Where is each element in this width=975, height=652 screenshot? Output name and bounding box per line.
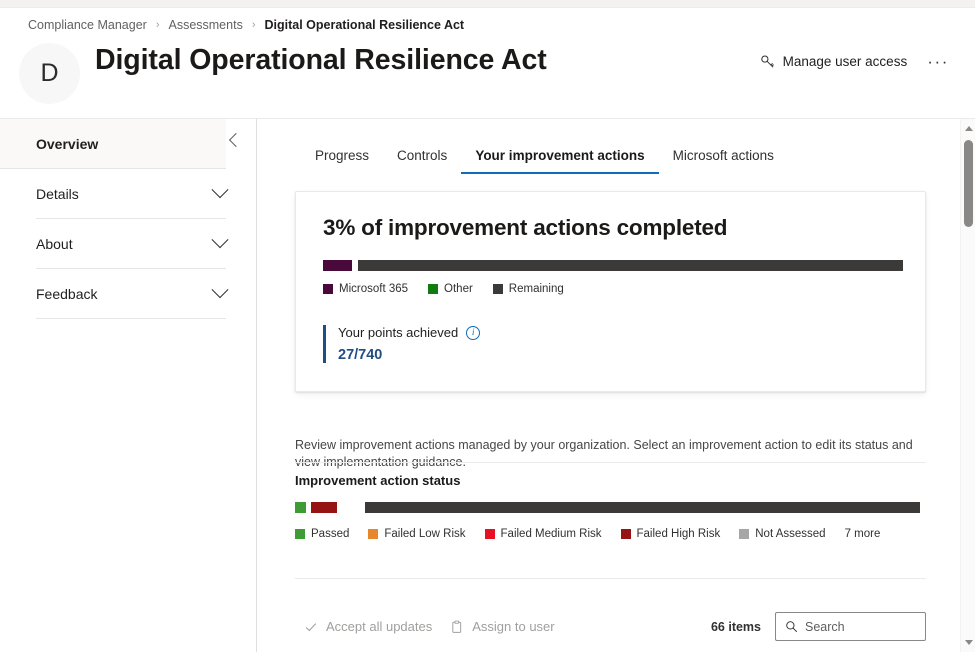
improvement-action-status-heading: Improvement action status xyxy=(295,473,460,488)
legend-label: Remaining xyxy=(509,283,564,295)
main-content: Progress Controls Your improvement actio… xyxy=(258,119,975,652)
legend-label: Microsoft 365 xyxy=(339,283,408,295)
sidebar-item-label: Details xyxy=(36,186,79,202)
divider xyxy=(295,462,926,463)
legend-swatch-icon xyxy=(493,284,503,294)
legend-swatch-icon xyxy=(428,284,438,294)
tab-progress[interactable]: Progress xyxy=(301,142,383,174)
scroll-up-arrow-icon[interactable] xyxy=(961,121,975,136)
chevron-down-icon xyxy=(212,281,229,298)
sidebar-item-label: Overview xyxy=(36,136,98,152)
legend-label: Other xyxy=(444,283,473,295)
tab-controls[interactable]: Controls xyxy=(383,142,461,174)
tab-your-improvement-actions[interactable]: Your improvement actions xyxy=(461,142,658,174)
sidebar-item-label: Feedback xyxy=(36,286,97,302)
info-icon[interactable]: i xyxy=(466,326,480,340)
clipboard-icon xyxy=(450,620,464,634)
improvement-summary-card: 3% of improvement actions completed Micr… xyxy=(295,191,926,392)
page-title: Digital Operational Resilience Act xyxy=(95,44,547,77)
completion-legend: Microsoft 365 Other Remaining xyxy=(323,283,898,295)
legend-item-other: Other xyxy=(428,283,473,295)
scroll-down-arrow-icon[interactable] xyxy=(961,635,975,650)
divider xyxy=(295,578,926,579)
legend-item-not-assessed: Not Assessed xyxy=(739,528,825,540)
avatar: D xyxy=(19,43,80,104)
legend-label: Not Assessed xyxy=(755,528,825,540)
points-achieved-block: Your points achieved i 27/740 xyxy=(323,325,898,363)
points-achieved-label: Your points achieved xyxy=(338,325,458,340)
legend-swatch-icon xyxy=(739,529,749,539)
chevron-down-icon xyxy=(212,231,229,248)
breadcrumb-item-current: Digital Operational Resilience Act xyxy=(265,18,465,32)
status-segment-spacer xyxy=(342,502,360,513)
items-count: 66 items xyxy=(711,620,761,634)
progress-segment-microsoft-365 xyxy=(323,260,352,271)
manage-user-access-label: Manage user access xyxy=(783,54,908,69)
legend-item-remaining: Remaining xyxy=(493,283,564,295)
search-input[interactable] xyxy=(805,620,916,634)
manage-user-access-button[interactable]: Manage user access xyxy=(760,54,908,69)
status-segment-failed-high-risk xyxy=(311,502,337,513)
improvement-action-status-legend: Passed Failed Low Risk Failed Medium Ris… xyxy=(295,528,880,540)
status-segment-passed xyxy=(295,502,306,513)
sidebar-collapse-button[interactable] xyxy=(224,130,244,150)
actions-toolbar: Accept all updates Assign to user 66 ite… xyxy=(295,601,926,652)
search-icon xyxy=(785,620,798,633)
legend-more-link[interactable]: 7 more xyxy=(845,528,881,540)
sidebar-item-feedback[interactable]: Feedback xyxy=(36,269,226,319)
key-icon xyxy=(760,54,775,69)
breadcrumb-separator-icon: › xyxy=(252,19,256,31)
assign-to-user-button[interactable]: Assign to user xyxy=(441,613,563,640)
status-segment-not-assessed xyxy=(365,502,920,513)
breadcrumb: Compliance Manager › Assessments › Digit… xyxy=(28,18,464,32)
points-achieved-value: 27/740 xyxy=(338,347,898,363)
legend-item-microsoft-365: Microsoft 365 xyxy=(323,283,408,295)
scrollbar-thumb[interactable] xyxy=(964,140,973,227)
checkmark-icon xyxy=(304,620,318,634)
legend-label: Failed Low Risk xyxy=(384,528,465,540)
tab-label: Microsoft actions xyxy=(673,148,774,163)
sidebar-item-overview[interactable]: Overview xyxy=(0,119,226,169)
legend-item-failed-low-risk: Failed Low Risk xyxy=(368,528,465,540)
sidebar: Overview Details About Feedback xyxy=(0,119,257,652)
legend-swatch-icon xyxy=(295,529,305,539)
completion-progress-bar xyxy=(323,260,903,271)
legend-label: Failed Medium Risk xyxy=(501,528,602,540)
tab-list: Progress Controls Your improvement actio… xyxy=(301,142,788,174)
tab-microsoft-actions[interactable]: Microsoft actions xyxy=(659,142,788,174)
more-options-icon[interactable]: ··· xyxy=(923,51,953,72)
breadcrumb-separator-icon: › xyxy=(156,19,160,31)
progress-segment-remaining xyxy=(358,260,903,271)
assign-to-user-label: Assign to user xyxy=(472,619,554,634)
top-chrome-strip xyxy=(0,0,975,8)
legend-swatch-icon xyxy=(485,529,495,539)
search-box[interactable] xyxy=(775,612,926,641)
legend-swatch-icon xyxy=(368,529,378,539)
legend-item-failed-medium-risk: Failed Medium Risk xyxy=(485,528,602,540)
legend-swatch-icon xyxy=(323,284,333,294)
chevron-down-icon xyxy=(212,181,229,198)
sidebar-item-about[interactable]: About xyxy=(36,219,226,269)
legend-swatch-icon xyxy=(621,529,631,539)
header-actions: Manage user access ··· xyxy=(760,51,953,72)
points-label-row: Your points achieved i xyxy=(338,325,898,340)
tab-label: Your improvement actions xyxy=(475,148,644,163)
legend-label: Failed High Risk xyxy=(637,528,721,540)
breadcrumb-item-assessments[interactable]: Assessments xyxy=(168,18,242,32)
sidebar-item-label: About xyxy=(36,236,73,252)
accept-all-updates-button[interactable]: Accept all updates xyxy=(295,613,441,640)
completion-headline: 3% of improvement actions completed xyxy=(323,215,898,241)
legend-item-passed: Passed xyxy=(295,528,349,540)
breadcrumb-item-compliance-manager[interactable]: Compliance Manager xyxy=(28,18,147,32)
tab-label: Controls xyxy=(397,148,447,163)
content-scrollbar[interactable] xyxy=(960,119,975,652)
section-description: Review improvement actions managed by yo… xyxy=(295,437,915,471)
toolbar-right-group: 66 items xyxy=(711,612,926,641)
accept-all-updates-label: Accept all updates xyxy=(326,619,432,634)
tab-label: Progress xyxy=(315,148,369,163)
legend-label: Passed xyxy=(311,528,349,540)
improvement-action-status-bar xyxy=(295,502,920,513)
sidebar-item-details[interactable]: Details xyxy=(36,169,226,219)
legend-item-failed-high-risk: Failed High Risk xyxy=(621,528,721,540)
page-frame: Overview Details About Feedback Progress… xyxy=(0,118,975,651)
